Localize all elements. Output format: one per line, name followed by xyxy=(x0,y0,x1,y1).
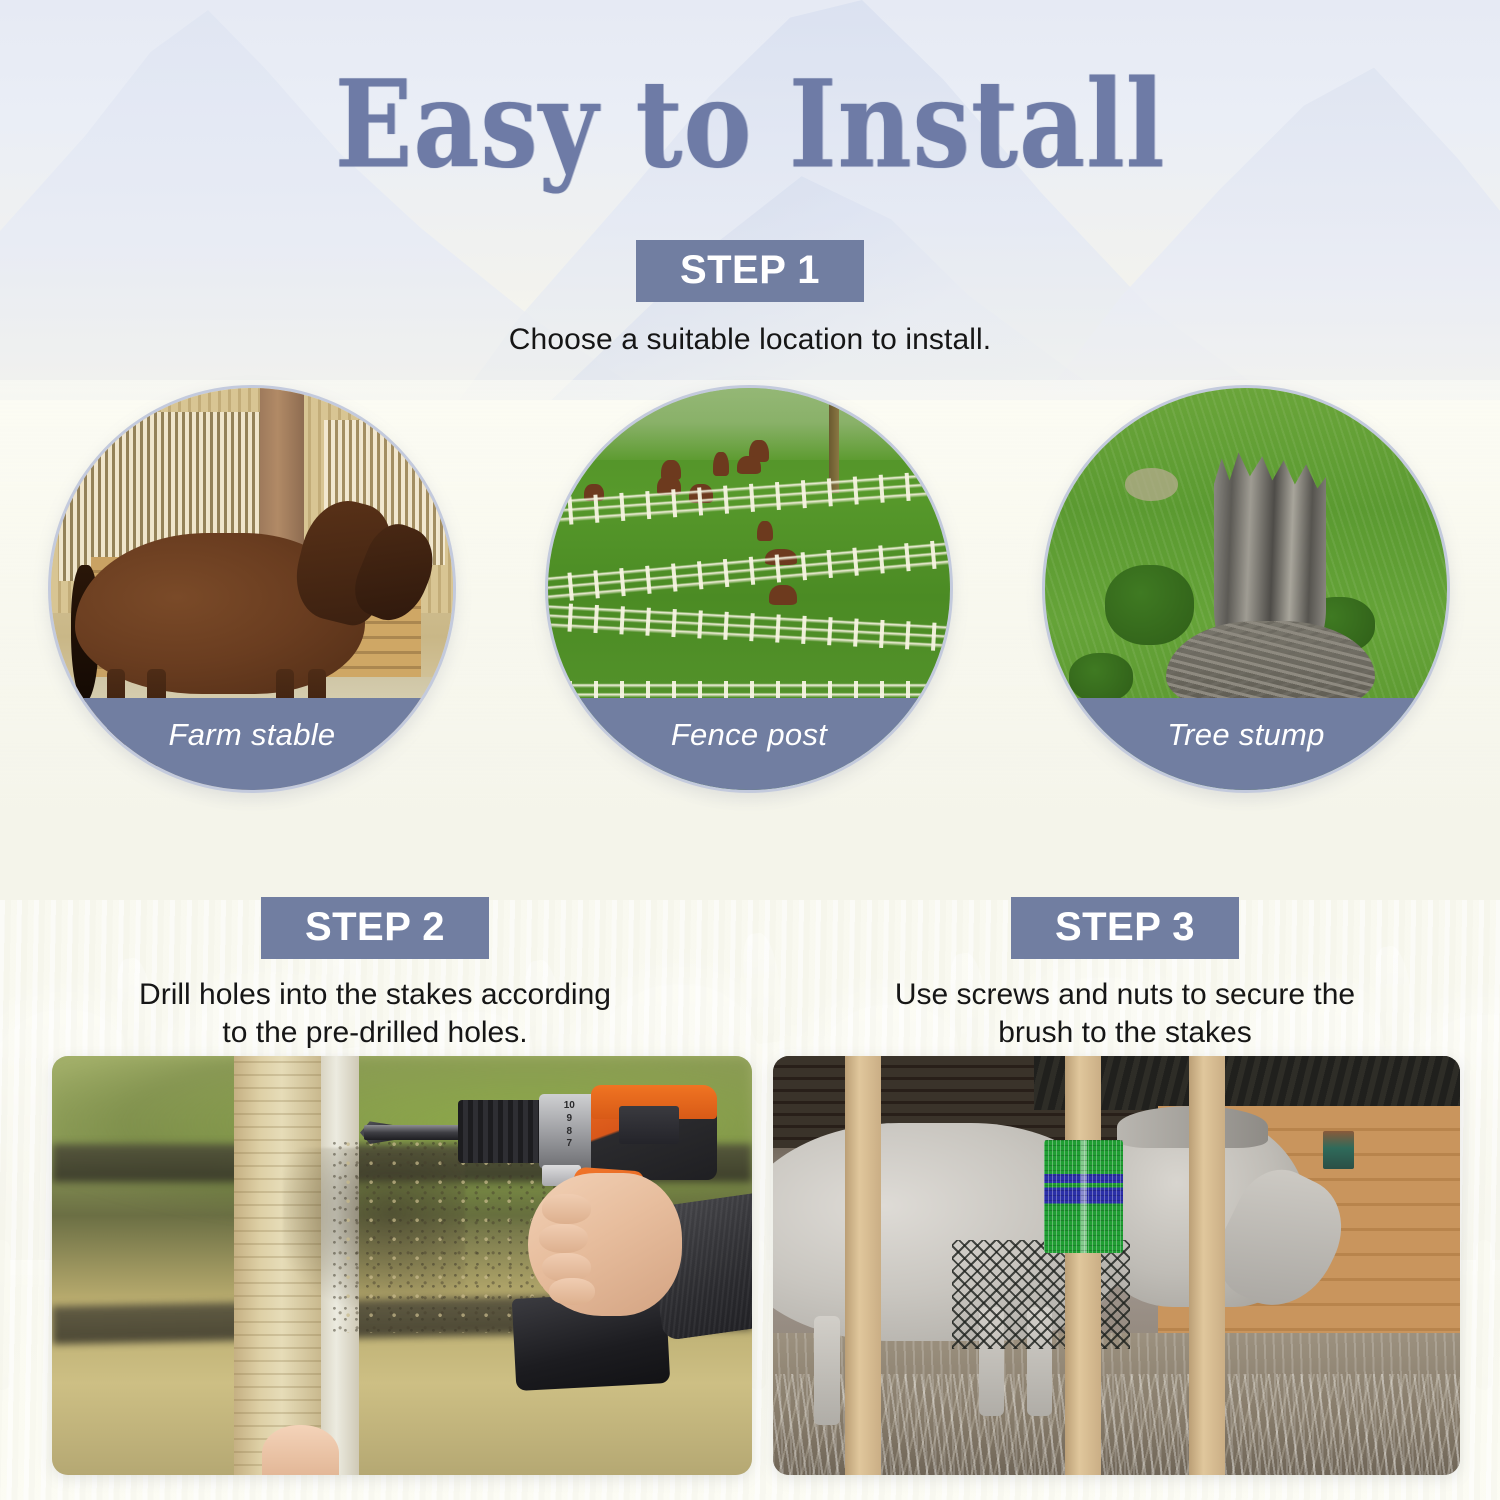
step-3-caption-line-2: brush to the stakes xyxy=(750,1014,1500,1052)
step-3-badge: STEP 3 xyxy=(1011,897,1239,959)
step-3-badge-container: STEP 3 xyxy=(750,897,1500,959)
step-2-caption: Drill holes into the stakes according to… xyxy=(0,976,750,1052)
page-title: Easy to Install xyxy=(15,62,1485,187)
drilling-photo: 10 9 8 7 xyxy=(52,1056,752,1475)
step-2-caption-line-2: to the pre-drilled holes. xyxy=(0,1014,750,1052)
location-card-tree-stump: Tree stump xyxy=(1042,385,1450,793)
grooming-brush xyxy=(1044,1140,1123,1253)
step-1-badge-container: STEP 1 xyxy=(0,240,1500,302)
brush-installed-photo xyxy=(773,1056,1460,1475)
step-1-caption: Choose a suitable location to install. xyxy=(0,323,1500,357)
location-card-farm-stable: Farm stable xyxy=(48,385,456,793)
step-2-caption-line-1: Drill holes into the stakes according xyxy=(0,976,750,1014)
location-card-fence-post: Fence post xyxy=(545,385,953,793)
location-card-label: Farm stable xyxy=(51,698,453,790)
step-2-badge: STEP 2 xyxy=(261,897,489,959)
drill-clutch-numbers: 10 9 8 7 xyxy=(545,1100,594,1163)
step-3-caption: Use screws and nuts to secure the brush … xyxy=(750,976,1500,1052)
location-card-label: Tree stump xyxy=(1045,698,1447,790)
location-card-label: Fence post xyxy=(548,698,950,790)
step-3-caption-line-1: Use screws and nuts to secure the xyxy=(750,976,1500,1014)
wall-bracket xyxy=(1323,1131,1355,1169)
step-2-badge-container: STEP 2 xyxy=(0,897,750,959)
infographic-page: Easy to Install STEP 1 Choose a suitable… xyxy=(0,0,1500,1500)
step-1-badge: STEP 1 xyxy=(636,240,864,302)
